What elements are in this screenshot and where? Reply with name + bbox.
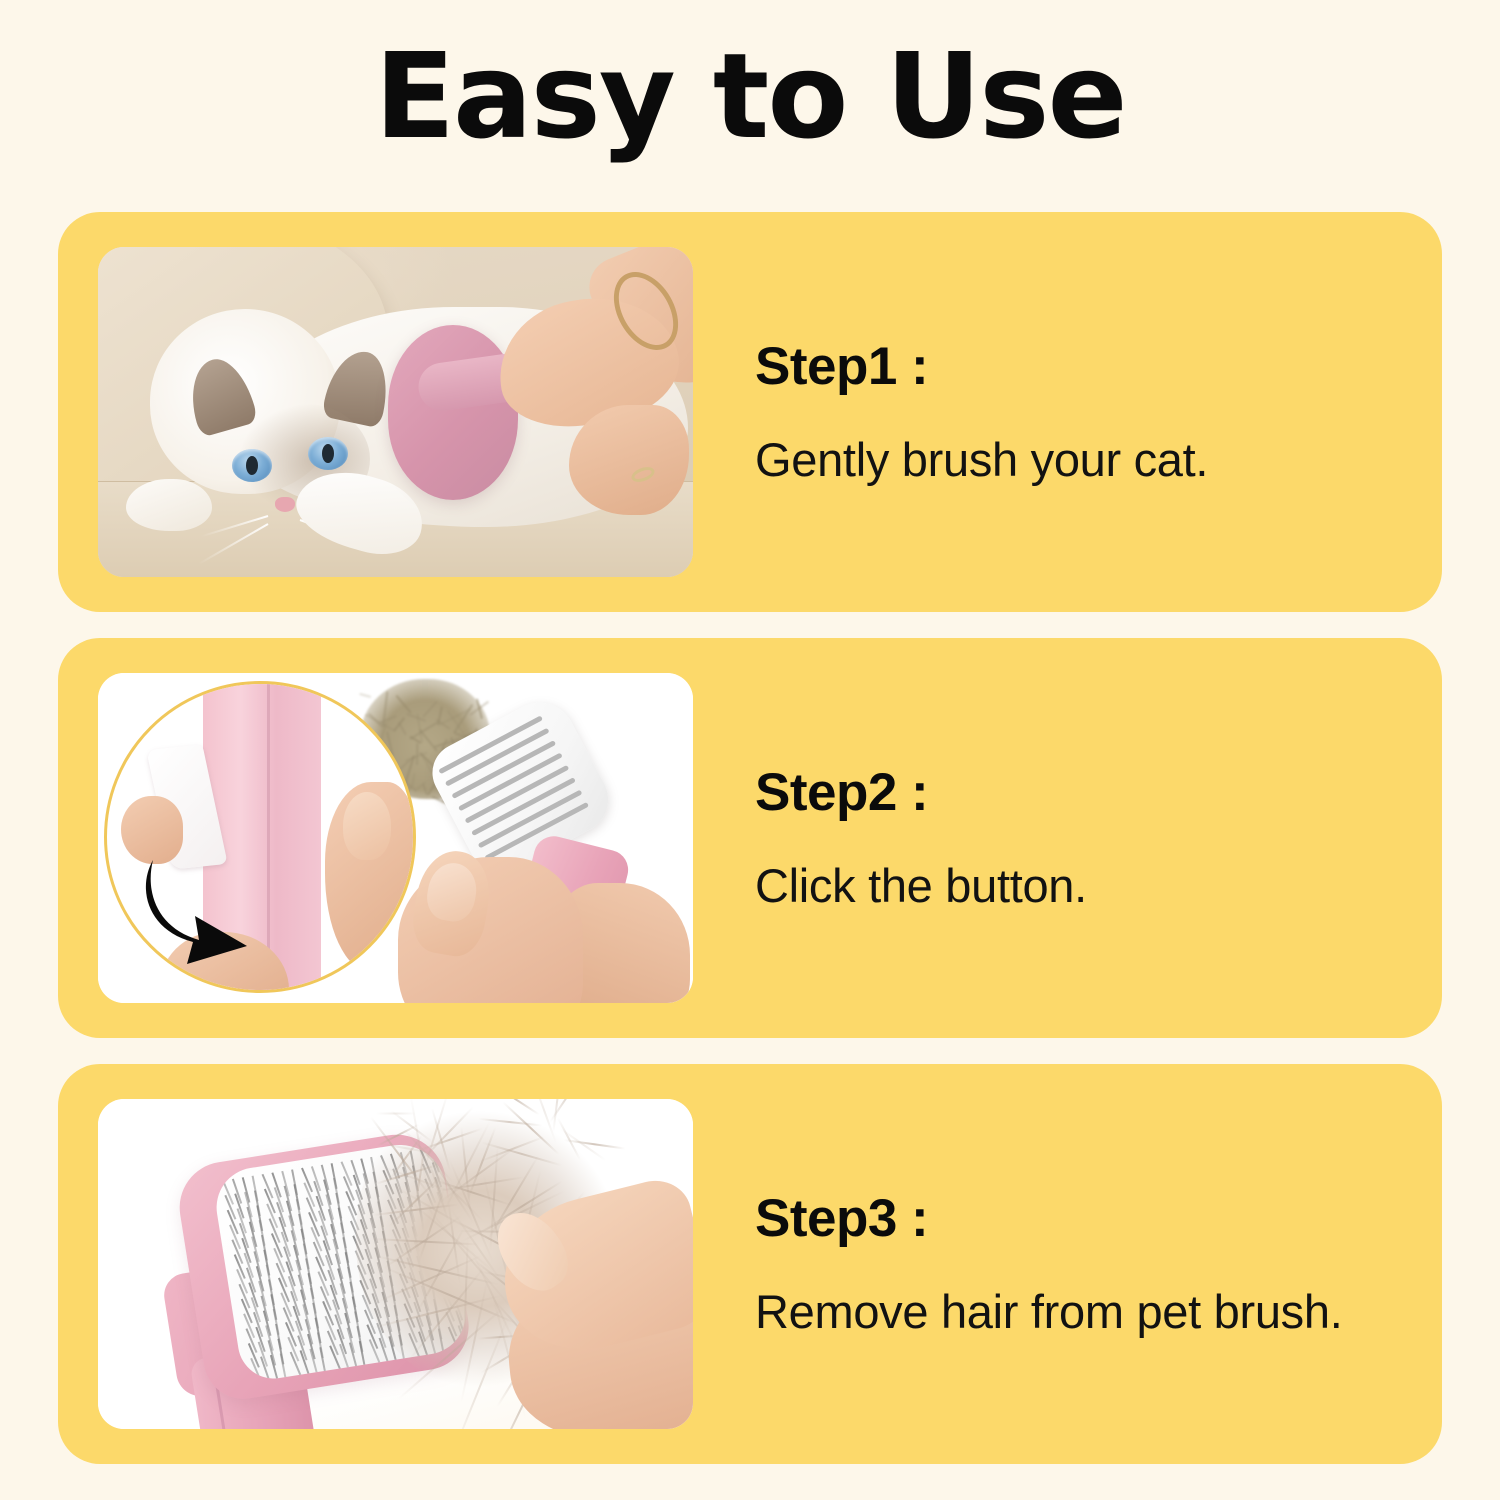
step-1-heading: Step1 : (755, 336, 1442, 398)
fur-tuft (379, 715, 397, 724)
fur-tuft (398, 722, 407, 736)
zoom-inset-circle (104, 681, 416, 993)
brush-pin (280, 1353, 287, 1379)
step-3-body: Remove hair from pet brush. (755, 1284, 1442, 1340)
step-card-3: Step3 : Remove hair from pet brush. (58, 1064, 1442, 1464)
step-1-text: Step1 : Gently brush your cat. (755, 336, 1442, 488)
cat-pupil-right (322, 444, 334, 463)
step-2-heading: Step2 : (755, 762, 1442, 824)
fur-tuft (416, 743, 418, 765)
brush-pin (359, 1341, 366, 1367)
step-3-photo (98, 1099, 693, 1429)
step-2-photo (98, 673, 693, 1003)
pink-brush-head (388, 325, 518, 500)
person-second-hand (569, 405, 689, 515)
step-3-text: Step3 : Remove hair from pet brush. (755, 1188, 1442, 1340)
cat-pupil-left (246, 456, 258, 475)
fur-tuft (411, 773, 416, 787)
step-1-body: Gently brush your cat. (755, 432, 1442, 488)
curved-arrow-icon (143, 852, 263, 967)
step-card-2: Step2 : Click the button. (58, 638, 1442, 1038)
step-2-text: Step2 : Click the button. (755, 762, 1442, 914)
brush-pin (319, 1347, 326, 1373)
fur-tuft (395, 695, 411, 714)
step-1-photo (98, 247, 693, 577)
step-2-body: Click the button. (755, 858, 1442, 914)
cat-eye-left (232, 449, 272, 482)
cat-head (150, 309, 340, 494)
cat-nose (275, 497, 295, 512)
step-card-1: Step1 : Gently brush your cat. (58, 212, 1442, 612)
cat-paw-back (126, 479, 212, 531)
fur-tuft (422, 701, 438, 718)
step-3-heading: Step3 : (755, 1188, 1442, 1250)
inset-finger-nail (343, 792, 391, 860)
cat-eye-right (308, 437, 348, 470)
cat-ear-left (181, 352, 259, 438)
page-title: Easy to Use (0, 34, 1500, 158)
